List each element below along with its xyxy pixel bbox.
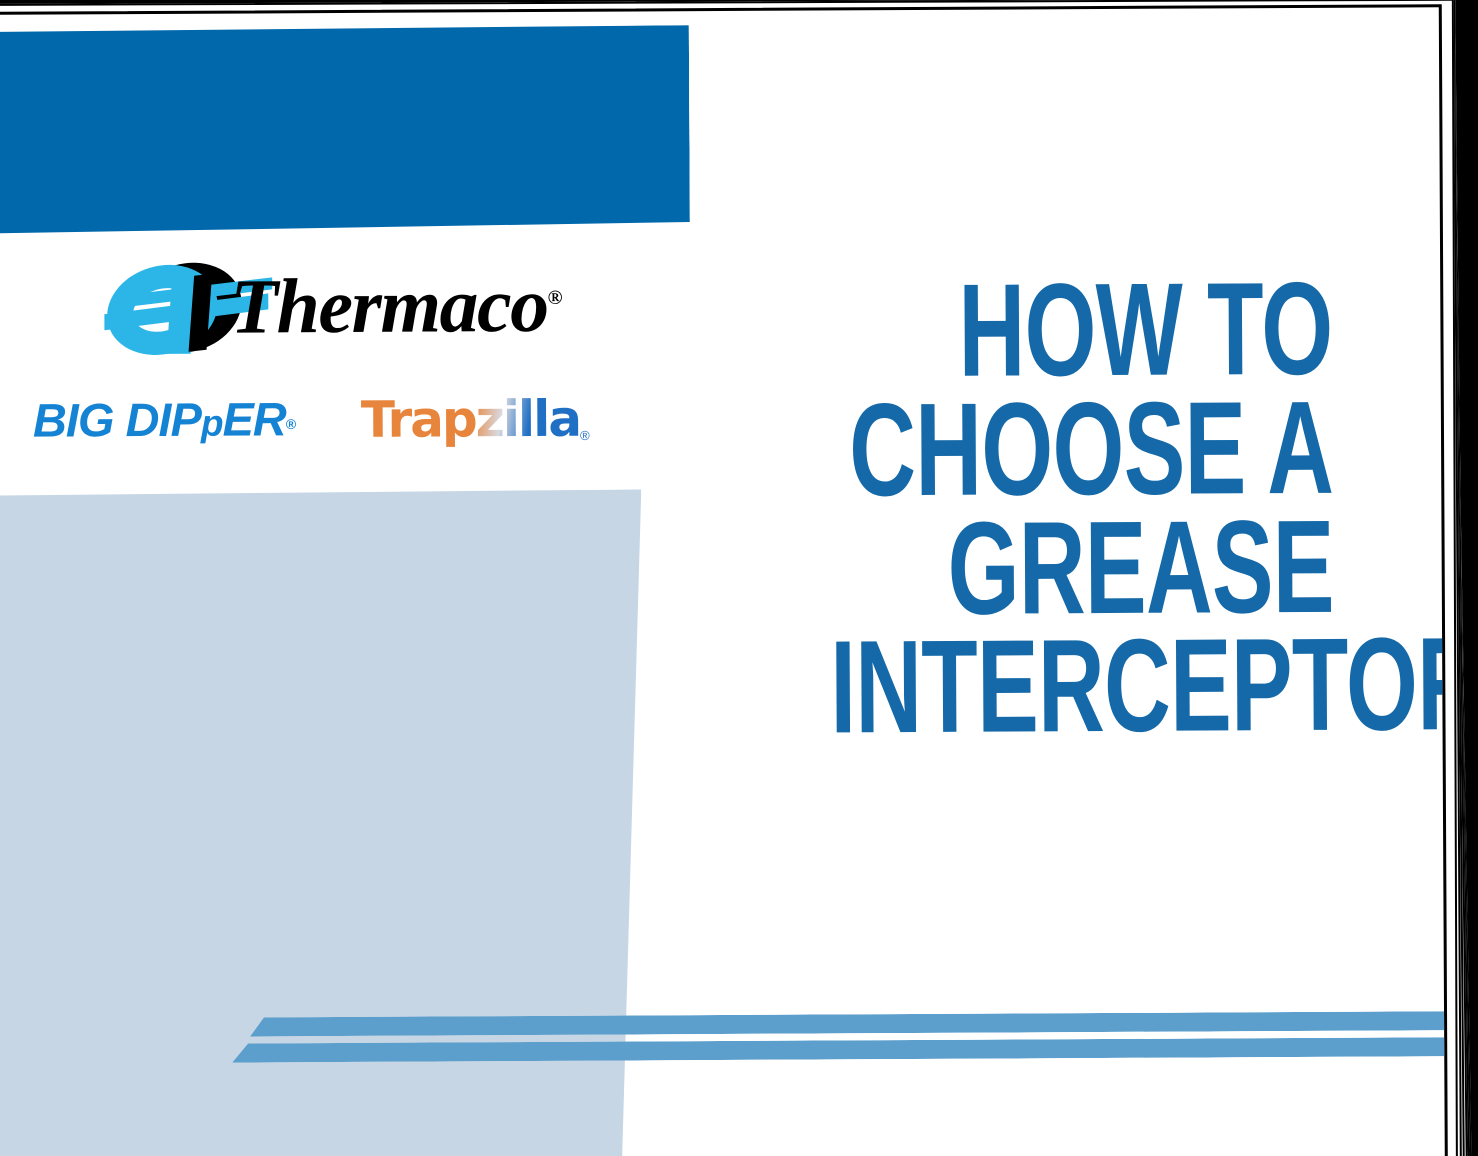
thermaco-wordmark-text: Thermaco xyxy=(230,261,548,350)
cover-page: Thermaco® BIG DIPpER® Trapzilla® HOW TO … xyxy=(0,4,1448,1156)
cover-title: HOW TO CHOOSE A GREASE INTERCEPTOR xyxy=(828,270,1334,748)
cover-title-line-2: CHOOSE A xyxy=(829,389,1334,510)
blue-header-banner xyxy=(0,25,690,234)
big-dipper-part-3: ER xyxy=(222,392,286,445)
big-dipper-part-2: p xyxy=(201,403,223,444)
big-dipper-registered-mark: ® xyxy=(286,416,295,432)
thermaco-registered-mark: ® xyxy=(548,287,563,309)
cover-stage: Thermaco® BIG DIPpER® Trapzilla® HOW TO … xyxy=(0,0,1478,1156)
trapzilla-part-1: Trap xyxy=(361,390,476,449)
thermaco-wordmark: Thermaco® xyxy=(230,266,563,346)
big-dipper-part-1: BIG DIP xyxy=(33,393,201,447)
trapzilla-part-2: zilla xyxy=(476,390,581,449)
thermaco-logo: Thermaco® xyxy=(86,252,577,363)
trapzilla-logo: Trapzilla® xyxy=(361,393,631,452)
cover-title-line-4: INTERCEPTOR xyxy=(830,626,1335,747)
big-dipper-logo: BIG DIPpER® xyxy=(33,395,353,453)
trapzilla-registered-mark: ® xyxy=(580,428,590,443)
cover-title-line-1: HOW TO xyxy=(828,270,1333,391)
